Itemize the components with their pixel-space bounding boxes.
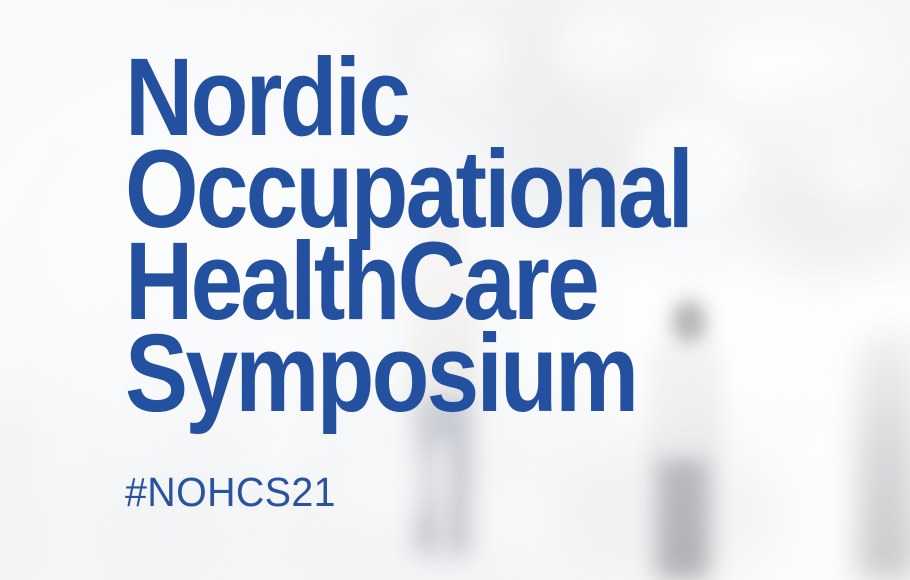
event-title-line-4: Symposium <box>125 328 691 420</box>
event-title: Nordic Occupational HealthCare Symposium <box>125 52 691 420</box>
event-poster: Nordic Occupational HealthCare Symposium… <box>0 0 910 580</box>
event-hashtag: #NOHCS21 <box>125 469 336 516</box>
poster-content: Nordic Occupational HealthCare Symposium… <box>0 0 910 580</box>
